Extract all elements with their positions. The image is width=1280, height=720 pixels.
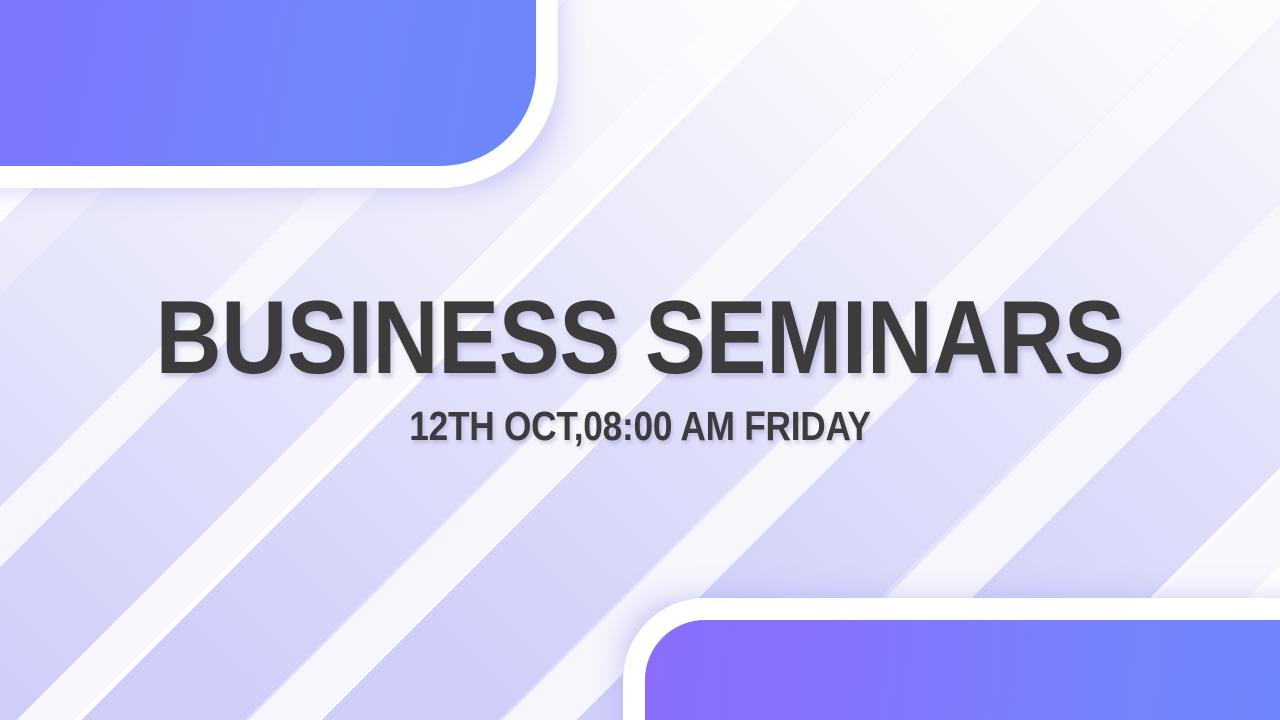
poster-canvas: BUSINESS SEMINARS 12TH OCT,08:00 AM FRID… — [0, 0, 1280, 720]
top-left-gradient-block — [0, 0, 536, 166]
event-datetime-subtitle: 12TH OCT,08:00 AM FRIDAY — [90, 406, 1191, 447]
bottom-right-gradient-block — [645, 620, 1280, 720]
page-title: BUSINESS SEMINARS — [77, 286, 1203, 390]
poster-text-block: BUSINESS SEMINARS 12TH OCT,08:00 AM FRID… — [0, 286, 1280, 447]
